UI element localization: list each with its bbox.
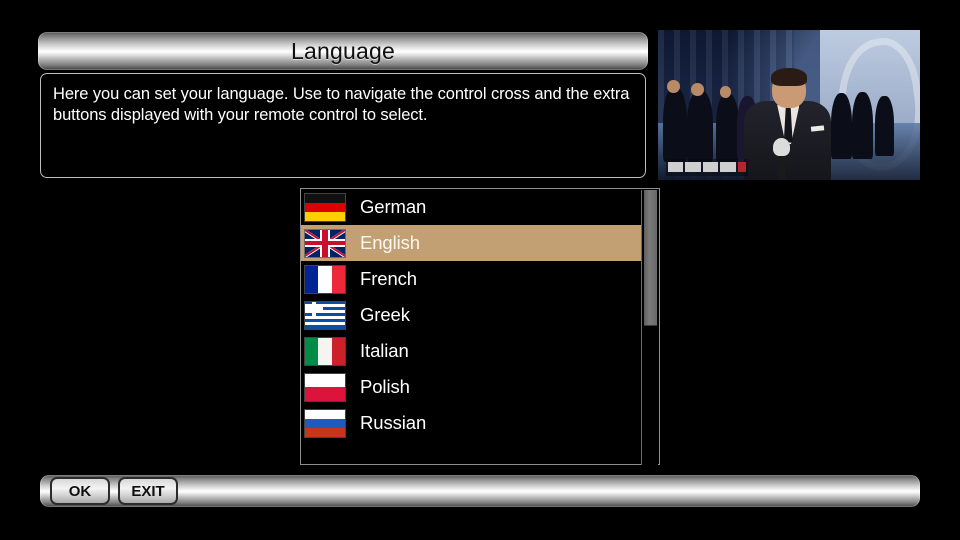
language-list-item[interactable]: Greek <box>301 297 642 333</box>
preview-crowd-person <box>831 93 852 159</box>
language-list-item[interactable]: Russian <box>301 405 642 441</box>
flag-fr-icon <box>305 266 345 293</box>
logo-segment <box>703 162 719 172</box>
preview-crowd-person <box>663 87 687 162</box>
preview-reporter-hair <box>771 68 808 86</box>
flag-gr-icon <box>305 302 345 329</box>
language-list-item-label: French <box>360 268 417 290</box>
preview-crowd-person-head <box>720 86 732 98</box>
language-list-item-label: Polish <box>360 376 410 398</box>
logo-segment <box>668 162 684 172</box>
language-list-item-label: Italian <box>360 340 409 362</box>
preview-microphone-icon <box>773 138 790 156</box>
language-list-item-label: Russian <box>360 412 426 434</box>
language-list-item-label: German <box>360 196 426 218</box>
preview-crowd-person <box>716 93 740 162</box>
tv-settings-screen: Language Here you can set your language.… <box>0 0 960 540</box>
language-list-item-label: English <box>360 232 420 254</box>
language-list-item[interactable]: Polish <box>301 369 642 405</box>
language-list-item-label: Greek <box>360 304 410 326</box>
logo-segment <box>685 162 701 172</box>
page-title: Language <box>291 38 395 65</box>
preview-crowd-person <box>875 96 893 156</box>
language-list-item[interactable]: German <box>301 189 642 225</box>
flag-pl-icon <box>305 374 345 401</box>
exit-button[interactable]: EXIT <box>118 477 178 505</box>
description-box: Here you can set your language. Use to n… <box>40 73 646 178</box>
window-title-bar: Language <box>38 32 648 70</box>
language-list: GermanEnglishFrenchGreekItalianPolishRus… <box>301 189 642 441</box>
live-tv-preview[interactable] <box>658 30 920 180</box>
flag-gb-icon <box>305 230 345 257</box>
logo-segment <box>720 162 736 172</box>
language-list-item[interactable]: French <box>301 261 642 297</box>
description-text: Here you can set your language. Use to n… <box>53 84 633 127</box>
ok-button[interactable]: OK <box>50 477 110 505</box>
language-list-item[interactable]: English <box>301 225 642 261</box>
logo-segment-accent <box>738 162 747 172</box>
channel-logo-bug <box>666 159 749 176</box>
scrollbar-track[interactable] <box>641 190 658 465</box>
softkey-bar: OK EXIT <box>40 475 920 507</box>
scrollbar-thumb[interactable] <box>644 190 657 326</box>
language-list-item[interactable]: Italian <box>301 333 642 369</box>
preview-crowd-person <box>852 92 873 160</box>
flag-ru-icon <box>305 410 345 437</box>
preview-microphone-handle <box>779 153 785 180</box>
flag-de-icon <box>305 194 345 221</box>
language-list-panel: GermanEnglishFrenchGreekItalianPolishRus… <box>300 188 660 465</box>
flag-it-icon <box>305 338 345 365</box>
preview-crowd-person-head <box>691 83 704 97</box>
preview-crowd-person <box>687 90 713 162</box>
